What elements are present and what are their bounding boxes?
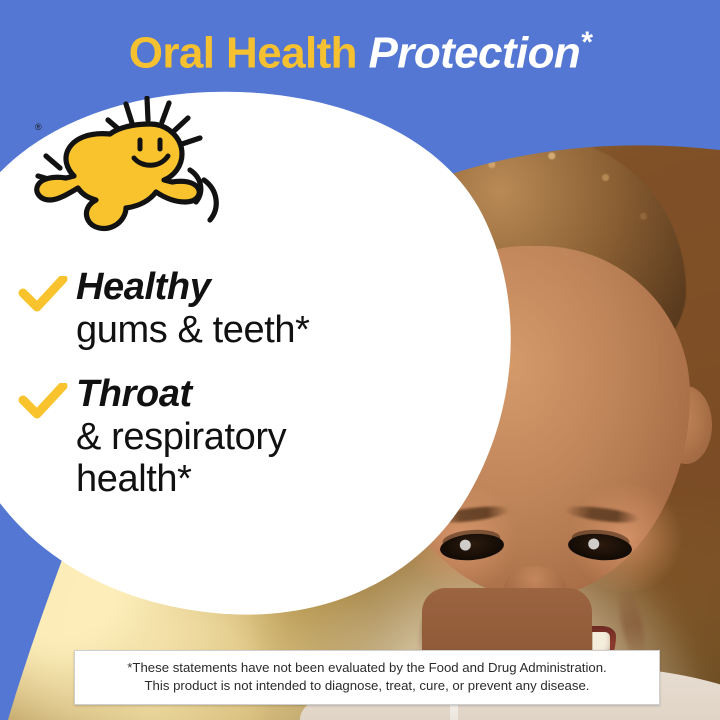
benefit-emphasis-throat: Throat xyxy=(76,373,286,416)
benefit-emphasis-oral: Healthy xyxy=(76,266,310,309)
benefit-item-oral: Healthy gums & teeth* xyxy=(18,266,418,351)
check-icon-svg xyxy=(18,383,68,423)
check-icon xyxy=(18,373,76,428)
fda-disclaimer: *These statements have not been evaluate… xyxy=(74,650,660,705)
benefit-text-oral: Healthy gums & teeth* xyxy=(76,266,310,351)
headline-asterisk: * xyxy=(580,26,591,59)
benefit-text-throat: Throat & respiratory health* xyxy=(76,373,286,501)
headline-part-two: Protection xyxy=(369,29,581,78)
benefit-rest-throat-line1: & respiratory xyxy=(76,416,286,459)
registered-trademark-mark: ® xyxy=(35,122,42,132)
crawling-baby-mascot-icon xyxy=(22,96,237,246)
disclaimer-line-1: *These statements have not been evaluate… xyxy=(81,659,653,677)
page-title: Oral Health Protection* xyxy=(0,28,720,76)
benefit-rest-throat-line2: health* xyxy=(76,458,286,501)
check-icon-svg xyxy=(18,276,68,316)
benefit-item-throat: Throat & respiratory health* xyxy=(18,373,418,501)
check-icon xyxy=(18,266,76,321)
benefit-list: Healthy gums & teeth* Throat & respirato… xyxy=(18,266,418,523)
headline-part-one: Oral Health xyxy=(129,29,357,78)
promo-image-canvas: Oral Health Protection* xyxy=(0,0,720,720)
disclaimer-line-2: This product is not intended to diagnose… xyxy=(81,677,653,695)
mascot-svg xyxy=(22,96,237,246)
benefit-rest-oral: gums & teeth* xyxy=(76,309,310,352)
